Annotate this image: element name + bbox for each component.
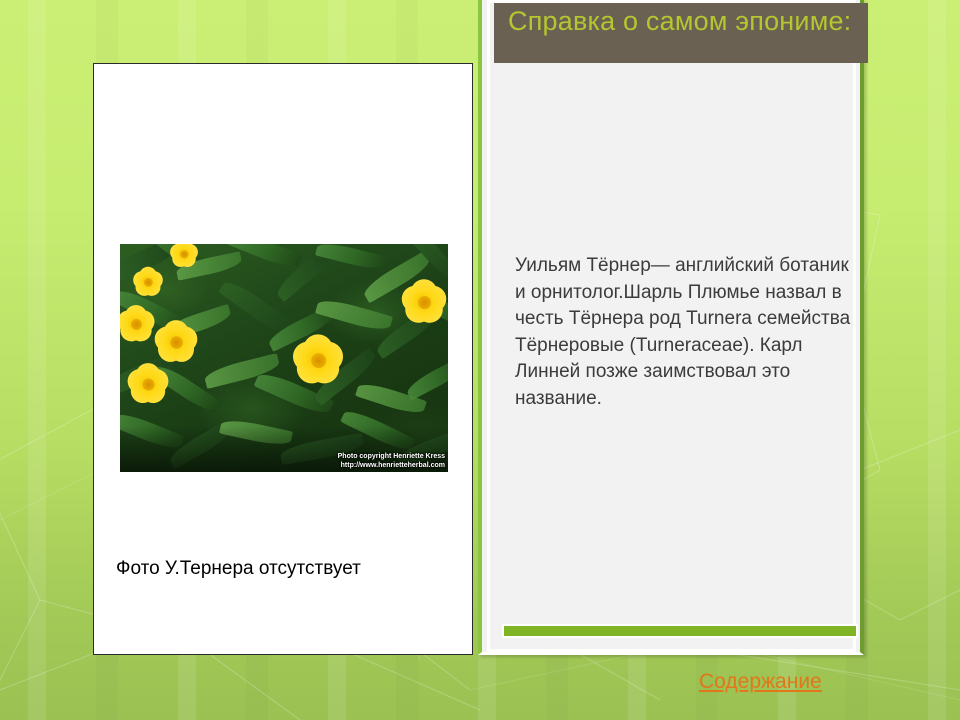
photo-watermark: Photo copyright Henriette Kress http://w…: [338, 452, 445, 470]
turnera-plant-photo: Photo copyright Henriette Kress http://w…: [120, 244, 448, 472]
flower: [130, 264, 165, 299]
page-title: Справка о самом эпониме:: [508, 5, 868, 38]
watermark-line-2: http://www.henrietteherbal.com: [338, 461, 445, 470]
content-inner: Справка о самом эпониме: Уильям Тёрнер— …: [487, 0, 856, 652]
slide-canvas: Photo copyright Henriette Kress http://w…: [0, 0, 960, 720]
table-of-contents-link[interactable]: Содержание: [699, 670, 822, 694]
flower: [124, 360, 172, 408]
photo-caption: Фото У.Тернера отсутствует: [116, 558, 456, 580]
content-panel: Справка о самом эпониме: Уильям Тёрнер— …: [478, 0, 864, 655]
watermark-line-1: Photo copyright Henriette Kress: [338, 452, 445, 461]
accent-bar: [504, 626, 856, 636]
title-bar: Справка о самом эпониме:: [494, 3, 868, 63]
flower: [288, 330, 347, 389]
photo-panel: Photo copyright Henriette Kress http://w…: [93, 63, 473, 655]
photo-frame: Photo copyright Henriette Kress http://w…: [120, 244, 448, 472]
flower: [398, 276, 448, 329]
flower: [168, 244, 201, 271]
body-text: Уильям Тёрнер— английский ботаник и орни…: [515, 253, 855, 412]
